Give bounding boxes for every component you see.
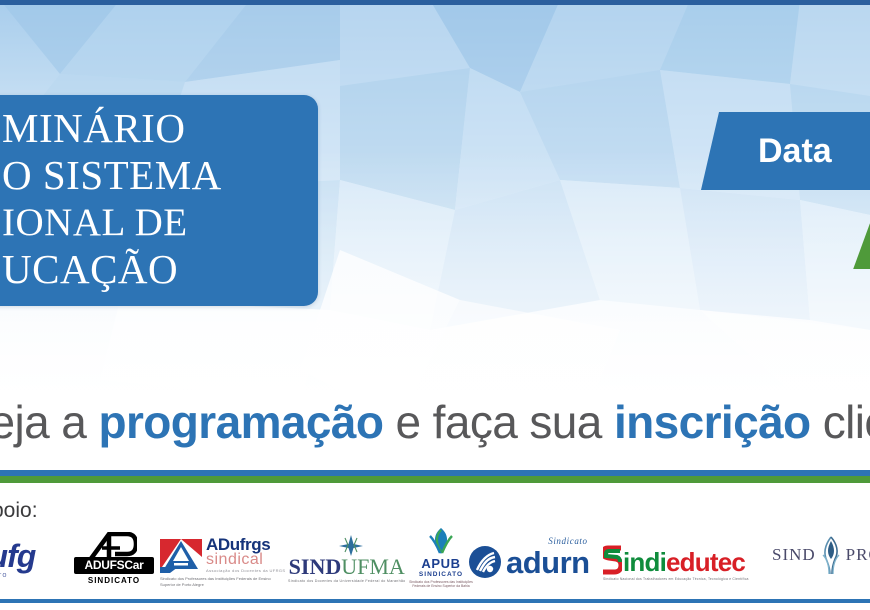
event-title-line-1: MINÁRIO bbox=[2, 101, 306, 152]
sindiedutec-wordmark: indiedutec bbox=[623, 549, 745, 575]
hero-section: MINÁRIO O SISTEMA IONAL DE UCAÇÃO Data V… bbox=[0, 0, 870, 478]
adufrgs-name-line3: Associação dos Docentes da UFRGS bbox=[206, 569, 286, 573]
apub-fine-print: Sindicato dos Professores das Instituiçõ… bbox=[404, 580, 478, 589]
date-ribbon: Data bbox=[701, 112, 870, 190]
sponsor-logo-adufg[interactable]: dufg SINDICATO bbox=[0, 540, 35, 579]
event-title-line-4: UCAÇÃO bbox=[2, 246, 306, 293]
sponsor-logo-adufscar[interactable]: ADUFSCar SINDICATO bbox=[74, 534, 154, 585]
adufscar-name-bar: ADUFSCar bbox=[74, 557, 154, 574]
sindufma-wordmark: SINDUFMA bbox=[288, 556, 406, 578]
adufg-wordmark: dufg bbox=[0, 540, 35, 572]
apub-subtitle: SINDICATO bbox=[404, 571, 478, 578]
adufscar-mark: ADUFSCar bbox=[74, 534, 154, 574]
sindufma-star-icon bbox=[315, 534, 379, 556]
cta-highlight-inscricao[interactable]: inscrição bbox=[614, 396, 811, 448]
sponsor-logo-sindproifes[interactable]: SIND PROIF bbox=[772, 535, 870, 575]
adufrgs-name-line2: sindical bbox=[206, 552, 286, 568]
sponsors-section: Apoio: dufg SINDICATO ADUFSCar bbox=[0, 483, 870, 599]
call-to-action-line[interactable]: Veja a programação e faça sua inscrição … bbox=[0, 392, 870, 452]
sindiedutec-fine-print: Sindicato Nacional dos Trabalhadores em … bbox=[603, 577, 749, 581]
sponsor-logo-sindiedutec[interactable]: indiedutec Sindicato Nacional dos Trabal… bbox=[603, 545, 749, 581]
event-title-line-3: IONAL DE bbox=[2, 199, 306, 246]
sponsor-logo-row: dufg SINDICATO ADUFSCar SINDICATO bbox=[0, 517, 870, 599]
adurn-kicker: Sindicato bbox=[548, 536, 587, 546]
sponsor-logo-adufrgs[interactable]: ADufrgs sindical Associação dos Docentes… bbox=[160, 536, 286, 587]
adufrgs-triangle-icon bbox=[160, 537, 202, 573]
apub-leaf-icon bbox=[424, 526, 458, 556]
event-title-text-block: MINÁRIO O SISTEMA IONAL DE UCAÇÃO bbox=[2, 101, 306, 300]
event-title-slab: MINÁRIO O SISTEMA IONAL DE UCAÇÃO bbox=[0, 95, 318, 306]
sponsor-logo-apub[interactable]: APUB SINDICATO Sindicato dos Professores… bbox=[404, 526, 478, 589]
adurn-disc-icon bbox=[468, 545, 502, 579]
cta-text-part-2: e faça sua bbox=[383, 396, 614, 448]
bottom-accent-rule bbox=[0, 599, 870, 603]
promo-banner-page: MINÁRIO O SISTEMA IONAL DE UCAÇÃO Data V… bbox=[0, 0, 870, 610]
top-accent-rule bbox=[0, 0, 870, 5]
cta-text-part-1: Veja a bbox=[0, 396, 98, 448]
event-title-line-2: O SISTEMA bbox=[2, 152, 306, 199]
date-ribbon-label: Data bbox=[710, 112, 870, 190]
sponsor-logo-sindufma[interactable]: SINDUFMA Sindicato dos Docentes da Unive… bbox=[288, 534, 406, 583]
sindufma-fine-print: Sindicato dos Docentes da Universidade F… bbox=[288, 579, 406, 583]
sindproifes-part-sind: SIND bbox=[772, 545, 816, 565]
apub-name: APUB bbox=[404, 557, 478, 570]
adurn-wordmark: adurn bbox=[506, 547, 590, 578]
sindiedutec-part-edutec: edutec bbox=[666, 547, 745, 577]
sindiedutec-part-sindi: indi bbox=[623, 547, 666, 577]
sindiedutec-s-icon bbox=[603, 545, 622, 575]
adufrgs-fine-print: Sindicato dos Professores das Instituiçõ… bbox=[160, 576, 280, 587]
sindproifes-flame-icon bbox=[818, 535, 844, 575]
sindproifes-part-proifes: PROIF bbox=[846, 545, 870, 565]
adufscar-subtitle: SINDICATO bbox=[74, 576, 154, 585]
section-separator-green bbox=[0, 476, 870, 483]
sindufma-part-sind: SIND bbox=[289, 554, 342, 579]
sponsor-logo-adurn[interactable]: Sindicato adurn bbox=[468, 545, 590, 579]
sindufma-part-ufma: UFMA bbox=[341, 554, 405, 579]
cta-highlight-programacao[interactable]: programação bbox=[98, 396, 383, 448]
cta-text-part-3: clicando aqui bbox=[811, 396, 870, 448]
